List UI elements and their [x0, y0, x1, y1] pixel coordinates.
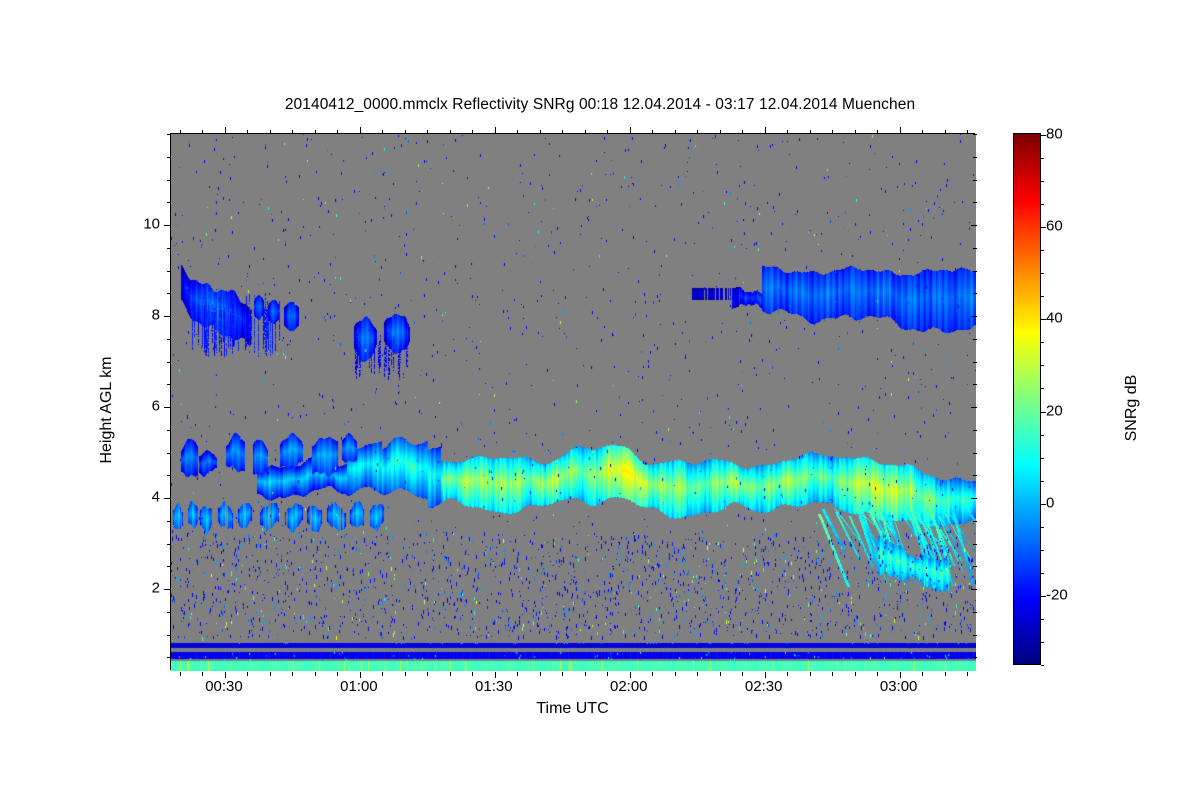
y-axis-minor-tick-right [973, 430, 977, 431]
colorbar-tick-label: 80 [1046, 126, 1063, 143]
reflectivity-heatmap-canvas [171, 134, 976, 671]
y-axis-minor-tick-right [973, 202, 977, 203]
colorbar-minor-tick [1041, 458, 1044, 459]
x-axis-minor-tick-top [720, 130, 721, 134]
y-axis-minor-tick [167, 248, 171, 249]
x-axis-minor-tick [675, 672, 676, 676]
x-axis-tick-label: 03:00 [880, 678, 918, 695]
colorbar-gradient [1014, 134, 1040, 664]
colorbar-minor-tick [1041, 158, 1044, 159]
colorbar-tick-label: 60 [1046, 218, 1063, 235]
x-axis-major-tick-top [225, 127, 226, 133]
x-axis-minor-tick [450, 672, 451, 676]
colorbar-minor-tick [1041, 435, 1044, 436]
x-axis-minor-tick-top [675, 130, 676, 134]
x-axis-tick-label: 02:30 [745, 678, 783, 695]
y-axis-minor-tick-right [973, 544, 977, 545]
x-axis-minor-tick [922, 672, 923, 676]
x-axis-minor-tick [855, 672, 856, 676]
x-axis-major-tick-top [630, 127, 631, 133]
x-axis-minor-tick-top [832, 130, 833, 134]
x-axis-minor-tick [427, 672, 428, 676]
x-axis-minor-tick [945, 672, 946, 676]
x-axis-minor-tick-top [877, 130, 878, 134]
colorbar [1013, 133, 1041, 665]
colorbar-minor-tick [1041, 204, 1044, 205]
x-axis-minor-tick-top [427, 130, 428, 134]
y-axis-minor-tick [167, 612, 171, 613]
x-axis-minor-tick-top [517, 130, 518, 134]
x-axis-minor-tick-top [270, 130, 271, 134]
x-axis-minor-tick [742, 672, 743, 676]
x-axis-major-tick-top [495, 127, 496, 133]
x-axis-minor-tick [607, 672, 608, 676]
x-axis-minor-tick-top [540, 130, 541, 134]
colorbar-tick-label: 20 [1046, 402, 1063, 419]
y-axis-major-tick [164, 407, 170, 408]
y-axis-minor-tick-right [973, 657, 977, 658]
x-axis-minor-tick-top [697, 130, 698, 134]
y-axis-major-tick-right [971, 225, 977, 226]
x-axis-minor-tick [517, 672, 518, 676]
y-axis-minor-tick-right [973, 612, 977, 613]
x-axis-minor-tick-top [180, 130, 181, 134]
colorbar-minor-tick [1041, 365, 1044, 366]
colorbar-minor-tick [1041, 550, 1044, 551]
x-axis-minor-tick-top [382, 130, 383, 134]
y-axis-minor-tick [167, 384, 171, 385]
y-axis-minor-tick-right [973, 180, 977, 181]
x-axis-minor-tick-top [742, 130, 743, 134]
colorbar-tick-label: -20 [1046, 586, 1068, 603]
y-axis-minor-tick [167, 566, 171, 567]
colorbar-minor-tick [1041, 296, 1044, 297]
y-axis-minor-tick [167, 271, 171, 272]
y-axis-minor-tick-right [973, 521, 977, 522]
y-axis-minor-tick-right [973, 475, 977, 476]
y-axis-minor-tick [167, 430, 171, 431]
colorbar-minor-tick [1041, 642, 1044, 643]
colorbar-minor-tick [1041, 388, 1044, 389]
y-axis-minor-tick-right [973, 566, 977, 567]
x-axis-tick-label: 01:00 [340, 678, 378, 695]
colorbar-minor-tick [1041, 273, 1044, 274]
y-axis-minor-tick [167, 180, 171, 181]
colorbar-minor-tick [1041, 250, 1044, 251]
y-axis-minor-tick-right [973, 635, 977, 636]
y-axis-minor-tick-right [973, 293, 977, 294]
x-axis-minor-tick [315, 672, 316, 676]
y-axis-major-tick [164, 498, 170, 499]
x-axis-minor-tick [270, 672, 271, 676]
x-axis-minor-tick [540, 672, 541, 676]
x-axis-title: Time UTC [170, 700, 975, 718]
x-axis-minor-tick-top [787, 130, 788, 134]
y-axis-major-tick-right [971, 498, 977, 499]
x-axis-minor-tick [832, 672, 833, 676]
y-axis-tick-label: 2 [130, 580, 160, 597]
y-axis-minor-tick [167, 657, 171, 658]
y-axis-minor-tick [167, 475, 171, 476]
x-axis-major-tick-top [765, 127, 766, 133]
x-axis-minor-tick-top [585, 130, 586, 134]
x-axis-minor-tick-top [652, 130, 653, 134]
y-axis-minor-tick [167, 544, 171, 545]
x-axis-minor-tick-top [855, 130, 856, 134]
colorbar-title: SNRg dB [1123, 328, 1141, 488]
x-axis-minor-tick-top [945, 130, 946, 134]
x-axis-minor-tick [810, 672, 811, 676]
x-axis-minor-tick-top [810, 130, 811, 134]
y-axis-tick-label: 8 [130, 307, 160, 324]
x-axis-minor-tick-top [472, 130, 473, 134]
x-axis-minor-tick [292, 672, 293, 676]
colorbar-minor-tick [1041, 481, 1044, 482]
y-axis-major-tick [164, 316, 170, 317]
y-axis-minor-tick-right [973, 248, 977, 249]
x-axis-minor-tick-top [450, 130, 451, 134]
y-axis-major-tick [164, 225, 170, 226]
y-axis-minor-tick-right [973, 362, 977, 363]
x-axis-minor-tick [652, 672, 653, 676]
colorbar-minor-tick [1041, 573, 1044, 574]
x-axis-minor-tick [697, 672, 698, 676]
x-axis-minor-tick [562, 672, 563, 676]
x-axis-minor-tick-top [202, 130, 203, 134]
y-axis-minor-tick-right [973, 339, 977, 340]
y-axis-minor-tick [167, 521, 171, 522]
x-axis-minor-tick-top [292, 130, 293, 134]
x-axis-minor-tick-top [607, 130, 608, 134]
x-axis-minor-tick-top [967, 130, 968, 134]
y-axis-title: Height AGL km [98, 300, 116, 520]
x-axis-major-tick-top [900, 127, 901, 133]
colorbar-minor-tick [1041, 181, 1044, 182]
colorbar-minor-tick [1041, 665, 1044, 666]
y-axis-minor-tick-right [973, 453, 977, 454]
colorbar-minor-tick [1041, 619, 1044, 620]
x-axis-minor-tick [720, 672, 721, 676]
colorbar-minor-tick [1041, 527, 1044, 528]
y-axis-major-tick-right [971, 407, 977, 408]
y-axis-minor-tick [167, 635, 171, 636]
y-axis-major-tick [164, 589, 170, 590]
y-axis-minor-tick-right [973, 384, 977, 385]
y-axis-minor-tick-right [973, 157, 977, 158]
x-axis-minor-tick [787, 672, 788, 676]
y-axis-minor-tick [167, 293, 171, 294]
y-axis-minor-tick-right [973, 271, 977, 272]
x-axis-minor-tick-top [315, 130, 316, 134]
y-axis-major-tick-right [971, 316, 977, 317]
y-axis-minor-tick-right [973, 134, 977, 135]
y-axis-minor-tick [167, 339, 171, 340]
figure-root: 20140412_0000.mmclx Reflectivity SNRg 00… [0, 0, 1200, 800]
x-axis-minor-tick-top [337, 130, 338, 134]
x-axis-minor-tick [585, 672, 586, 676]
x-axis-minor-tick [180, 672, 181, 676]
y-axis-tick-label: 10 [130, 216, 160, 233]
colorbar-tick-label: 40 [1046, 310, 1063, 327]
x-axis-minor-tick-top [247, 130, 248, 134]
x-axis-minor-tick [337, 672, 338, 676]
x-axis-major-tick-top [360, 127, 361, 133]
plot-title: 20140412_0000.mmclx Reflectivity SNRg 00… [0, 96, 1200, 114]
y-axis-tick-label: 6 [130, 398, 160, 415]
x-axis-minor-tick [247, 672, 248, 676]
y-axis-minor-tick [167, 362, 171, 363]
x-axis-tick-label: 00:30 [205, 678, 243, 695]
x-axis-tick-label: 02:00 [610, 678, 648, 695]
x-axis-minor-tick [967, 672, 968, 676]
x-axis-minor-tick [472, 672, 473, 676]
x-axis-tick-label: 01:30 [475, 678, 513, 695]
x-axis-minor-tick [877, 672, 878, 676]
x-axis-minor-tick [405, 672, 406, 676]
y-axis-tick-label: 4 [130, 489, 160, 506]
y-axis-minor-tick [167, 157, 171, 158]
y-axis-major-tick-right [971, 589, 977, 590]
x-axis-minor-tick-top [405, 130, 406, 134]
colorbar-tick-label: 0 [1046, 494, 1054, 511]
x-axis-minor-tick-top [562, 130, 563, 134]
y-axis-minor-tick [167, 134, 171, 135]
y-axis-minor-tick [167, 453, 171, 454]
x-axis-minor-tick [382, 672, 383, 676]
colorbar-minor-tick [1041, 342, 1044, 343]
x-axis-minor-tick-top [922, 130, 923, 134]
heatmap-plot-area [170, 133, 975, 670]
x-axis-minor-tick [202, 672, 203, 676]
y-axis-minor-tick [167, 202, 171, 203]
